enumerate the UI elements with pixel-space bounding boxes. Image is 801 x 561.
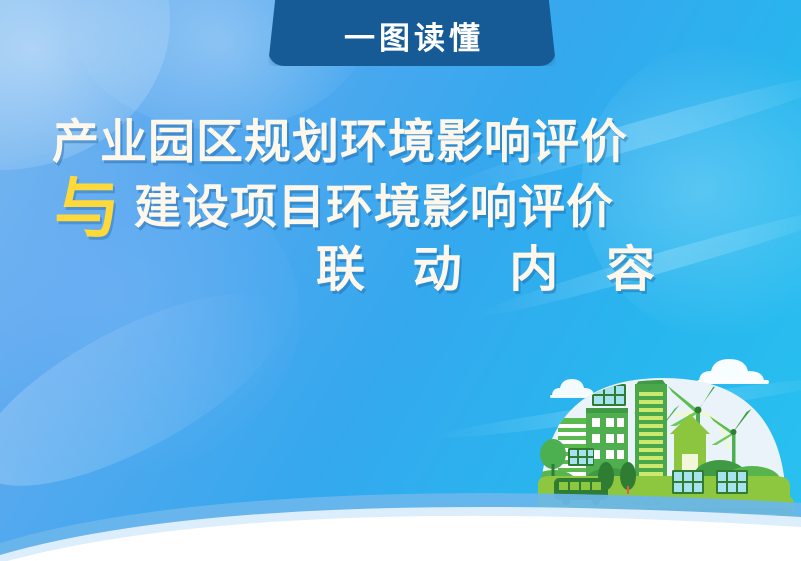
- headline-line-1-text: 产业园区规划环境影响评价: [52, 118, 628, 165]
- solar-panel-icon: [672, 470, 704, 494]
- headline-line-1: 产业园区规划环境影响评价: [0, 118, 720, 165]
- headline-block: 产业园区规划环境影响评价 与 建设项目环境影响评价 联 动 内 容: [0, 118, 720, 295]
- headline-line-3-text: 联 动 内 容: [316, 246, 672, 295]
- solar-panel-icon: [568, 448, 594, 466]
- infographic-poster: 一图读懂 产业园区规划环境影响评价 与 建设项目环境影响评价 联 动 内 容: [0, 0, 801, 561]
- banner-label: 一图读懂: [340, 23, 484, 54]
- headline-line-2-text: 建设项目环境影响评价: [134, 183, 614, 230]
- top-banner: 一图读懂: [268, 0, 556, 66]
- eco-city-illustration: [524, 352, 801, 561]
- highrise-tower: [635, 364, 667, 482]
- headline-conjunction: 与: [54, 178, 120, 239]
- water-highlight: [654, 515, 710, 523]
- solar-panel-icon: [716, 470, 748, 494]
- background-light-streak: [0, 257, 308, 523]
- water-highlight: [612, 528, 672, 536]
- headline-line-3: 联 动 内 容: [0, 246, 720, 295]
- headline-line-2: 与 建设项目环境影响评价: [0, 176, 720, 237]
- water-highlight: [746, 514, 778, 523]
